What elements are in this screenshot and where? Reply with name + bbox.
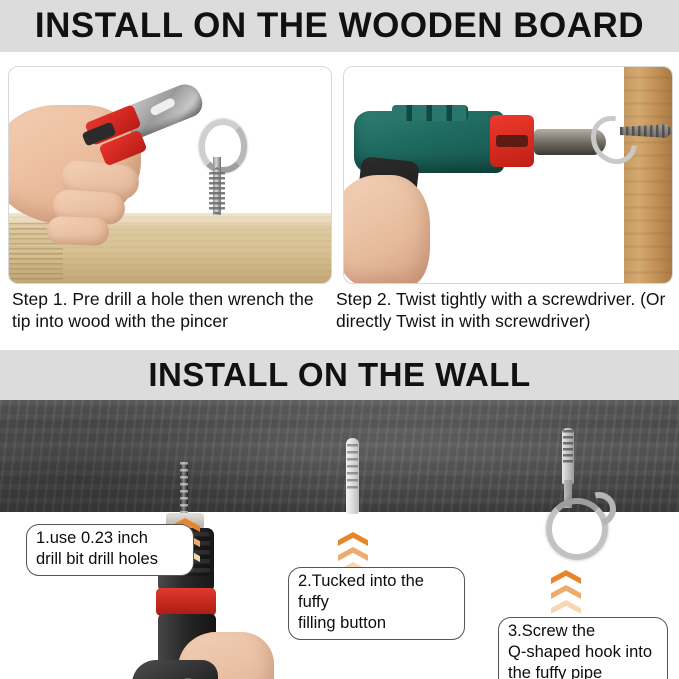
hand-graphic: [343, 175, 430, 284]
q-hook-screw: [562, 428, 574, 484]
q-shaped-hook-icon: [546, 428, 606, 558]
wooden-post-graphic: [624, 67, 672, 283]
product-instruction-infographic: INSTALL ON THE WOODEN BOARD: [0, 0, 679, 679]
banner-wood-title: INSTALL ON THE WOODEN BOARD: [35, 6, 644, 46]
drill-red-collar: [490, 115, 534, 167]
drill-battery: [132, 660, 218, 679]
banner-wall-title: INSTALL ON THE WALL: [148, 356, 530, 394]
chevron-up-icon: [338, 547, 368, 561]
step-1-caption: Step 1. Pre drill a hole then wrench the…: [12, 288, 332, 332]
eye-screw-thread: [209, 167, 225, 215]
wall-anchor-plug-icon: [346, 438, 359, 514]
chevron-up-icon: [551, 585, 581, 599]
step-2-caption: Step 2. Twist tightly with a screwdriver…: [336, 288, 676, 332]
eye-screw-icon: [195, 119, 239, 219]
step-1-photo: [8, 66, 332, 284]
banner-install-on-wall: INSTALL ON THE WALL: [0, 350, 679, 400]
callout-step-1: 1.use 0.23 inch drill bit drill holes: [26, 524, 194, 576]
callout-step-2: 2.Tucked into the fuffy filling button: [288, 567, 465, 640]
drill-red-collar: [156, 588, 216, 616]
banner-install-on-wooden-board: INSTALL ON THE WOODEN BOARD: [0, 0, 679, 52]
chevron-up-icon: [551, 570, 581, 584]
wooden-board-panels: [0, 52, 679, 290]
finger-graphic: [47, 216, 110, 246]
callout-step-3: 3.Screw the Q-shaped hook into the fuffy…: [498, 617, 668, 679]
drill-bit-icon: [180, 462, 188, 518]
chevron-up-icon: [551, 600, 581, 614]
drill-vents: [392, 105, 468, 121]
chevron-up-icon: [338, 532, 368, 546]
q-shaped-hook-icon: [590, 111, 632, 161]
wall-installation-scene: 1.use 0.23 inch drill bit drill holes 2.…: [0, 400, 679, 679]
step-captions: Step 1. Pre drill a hole then wrench the…: [0, 288, 679, 350]
eye-screw-ring: [199, 119, 247, 173]
step-2-photo: [343, 66, 673, 284]
